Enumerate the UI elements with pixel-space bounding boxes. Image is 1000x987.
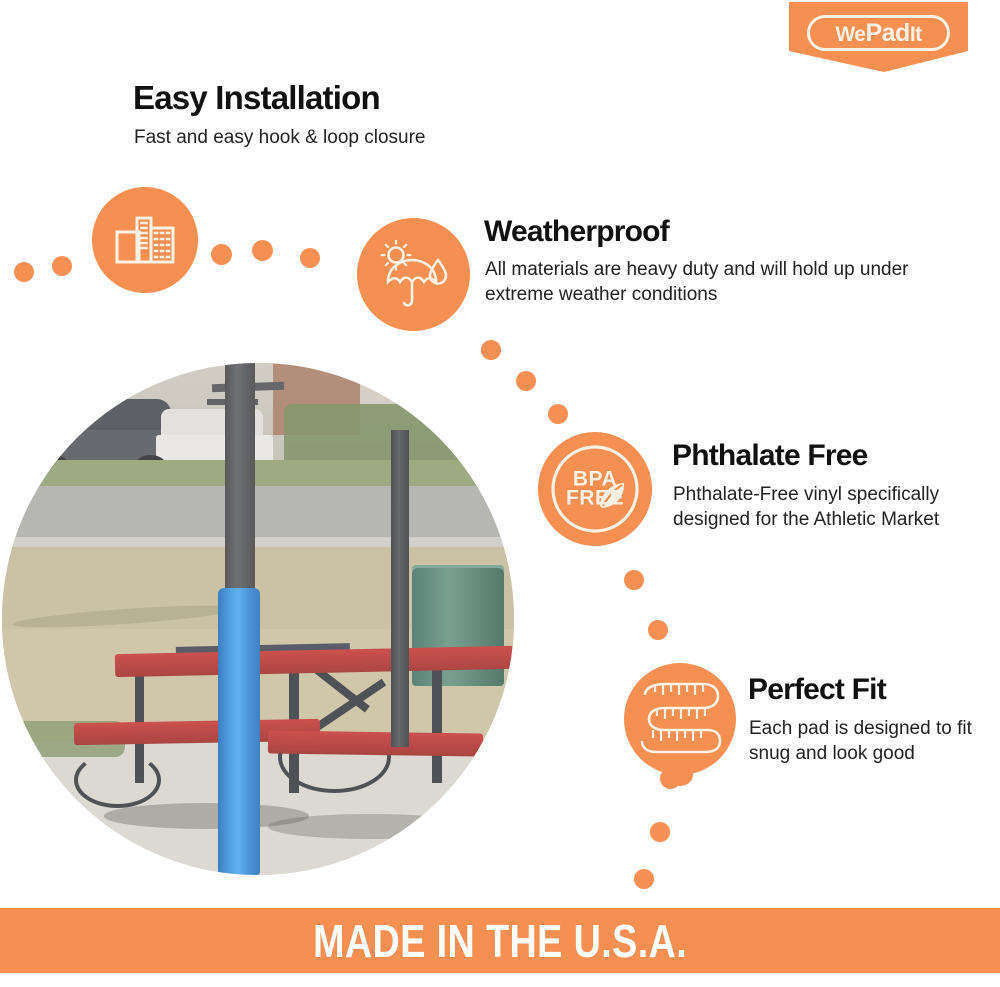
made-in-usa-text: MADE IN THE U.S.A. xyxy=(313,914,687,968)
trail-dot xyxy=(648,620,668,640)
feature-title-perfect-fit: Perfect Fit xyxy=(748,673,886,707)
feature-desc-weatherproof: All materials are heavy duty and will ho… xyxy=(485,257,915,307)
building-facility-icon xyxy=(92,187,198,293)
trail-dot xyxy=(52,256,72,276)
measuring-tape-icon xyxy=(624,663,736,775)
trail-dot xyxy=(624,570,644,590)
logo-wordmark: WePadIt xyxy=(835,21,921,46)
feature-desc-perfect-fit: Each pad is designed to fit snug and loo… xyxy=(749,716,979,766)
feature-desc-easy-installation: Fast and easy hook & loop closure xyxy=(134,125,554,150)
logo-word-we: We xyxy=(835,23,865,46)
trail-dot xyxy=(300,248,320,268)
feature-desc-phthalate-free: Phthalate-Free vinyl specifically design… xyxy=(673,482,943,532)
bpa-free-leaf-icon: BPA FREE xyxy=(538,432,652,546)
trail-dot xyxy=(252,240,273,261)
trail-dot xyxy=(650,822,670,842)
infographic-page: WePadIt xyxy=(0,0,1000,987)
bpa-line-2: FREE xyxy=(566,487,624,510)
made-in-usa-banner: MADE IN THE U.S.A. xyxy=(0,908,1000,973)
brand-logo-badge: WePadIt xyxy=(789,2,968,72)
feature-title-phthalate-free: Phthalate Free xyxy=(672,439,868,473)
trail-dot xyxy=(211,244,232,265)
trail-dot xyxy=(516,371,536,391)
feature-title-weatherproof: Weatherproof xyxy=(484,215,669,249)
logo-word-pad: Pad xyxy=(865,19,909,47)
feature-title-easy-installation: Easy Installation xyxy=(133,79,380,117)
trail-dot xyxy=(14,262,34,282)
photo-haze-overlay xyxy=(2,363,514,875)
product-photo xyxy=(2,363,514,875)
bpa-free-text: BPA FREE xyxy=(538,470,652,509)
tape-icon-base-dot xyxy=(667,764,693,786)
umbrella-sun-raindrop-icon xyxy=(357,218,470,331)
trail-dot xyxy=(634,869,654,889)
logo-word-it: It xyxy=(910,23,922,46)
trail-dot xyxy=(481,340,501,360)
trail-dot xyxy=(548,404,568,424)
logo-outline-pill: WePadIt xyxy=(807,15,950,51)
